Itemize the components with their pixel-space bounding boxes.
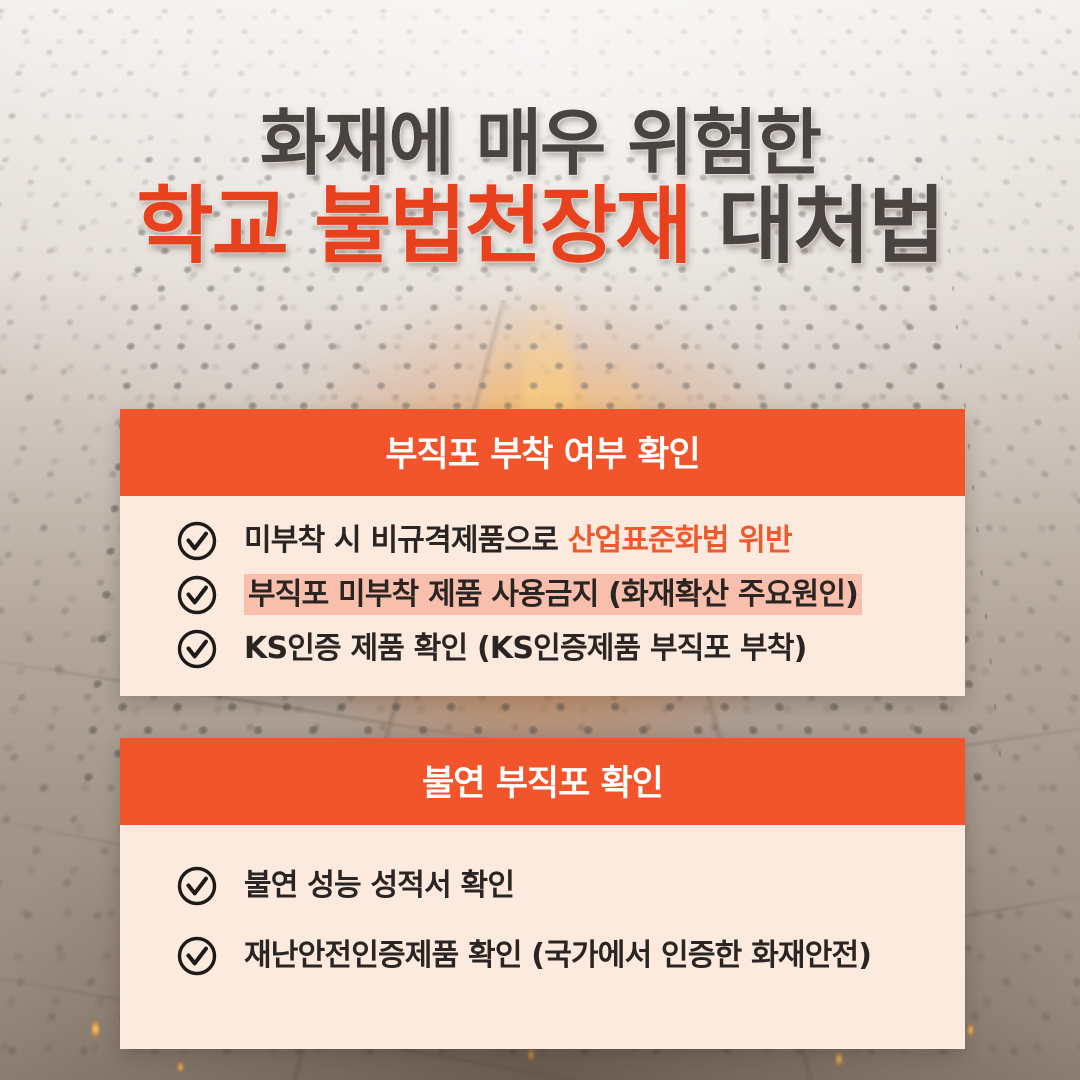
list-item-text: 불연 성능 성적서 확인	[244, 866, 514, 907]
card-2-body: 불연 성능 성적서 확인 재난안전인증제품 확인 (국가에서 인증한 화재안전)	[120, 825, 965, 1049]
list-item-text: 재난안전인증제품 확인 (국가에서 인증한 화재안전)	[244, 936, 871, 977]
list-item-text: 미부착 시 비규격제품으로 산업표준화법 위반	[244, 521, 792, 562]
card-2-header: 불연 부직포 확인	[120, 738, 965, 825]
list-item: 재난안전인증제품 확인 (국가에서 인증한 화재안전)	[120, 935, 965, 977]
list-item: 불연 성능 성적서 확인	[120, 865, 965, 907]
check-circle-icon	[176, 628, 218, 670]
check-circle-icon	[176, 865, 218, 907]
title-rest-text: 대처법	[718, 177, 944, 275]
poster-title: 화재에 매우 위험한 학교 불법천장재 대처법	[0, 108, 1080, 267]
check-circle-icon	[176, 574, 218, 616]
info-card-2: 불연 부직포 확인 불연 성능 성적서 확인 재	[120, 738, 965, 1049]
title-line-1: 화재에 매우 위험한	[0, 108, 1080, 179]
check-circle-icon	[176, 520, 218, 562]
info-card-1: 부직포 부착 여부 확인 미부착 시 비규격제품으로 산업표준화법 위반	[120, 409, 965, 696]
list-item-text: KS인증 제품 확인 (KS인증제품 부직포 부착)	[244, 629, 807, 670]
list-item: 미부착 시 비규격제품으로 산업표준화법 위반	[120, 520, 965, 562]
title-highlight-text: 학교 불법천장재	[136, 177, 690, 275]
list-item-text-plain: 미부착 시 비규격제품으로	[244, 523, 568, 558]
list-item: 부직포 미부착 제품 사용금지 (화재확산 주요원인)	[120, 574, 965, 616]
check-circle-icon	[176, 935, 218, 977]
list-item: KS인증 제품 확인 (KS인증제품 부직포 부착)	[120, 628, 965, 670]
card-1-header: 부직포 부착 여부 확인	[120, 409, 965, 496]
card-1-body: 미부착 시 비규격제품으로 산업표준화법 위반 부직포 미부착 제품 사용금지 …	[120, 496, 965, 696]
list-item-text-accent: 산업표준화법 위반	[568, 523, 792, 558]
poster-canvas: 화재에 매우 위험한 학교 불법천장재 대처법 부직포 부착 여부 확인 미부착…	[0, 0, 1080, 1080]
list-item-text-highlighted: 부직포 미부착 제품 사용금지 (화재확산 주요원인)	[244, 574, 862, 615]
list-item-text: 부직포 미부착 제품 사용금지 (화재확산 주요원인)	[244, 575, 862, 616]
title-line-2: 학교 불법천장재 대처법	[0, 185, 1080, 267]
